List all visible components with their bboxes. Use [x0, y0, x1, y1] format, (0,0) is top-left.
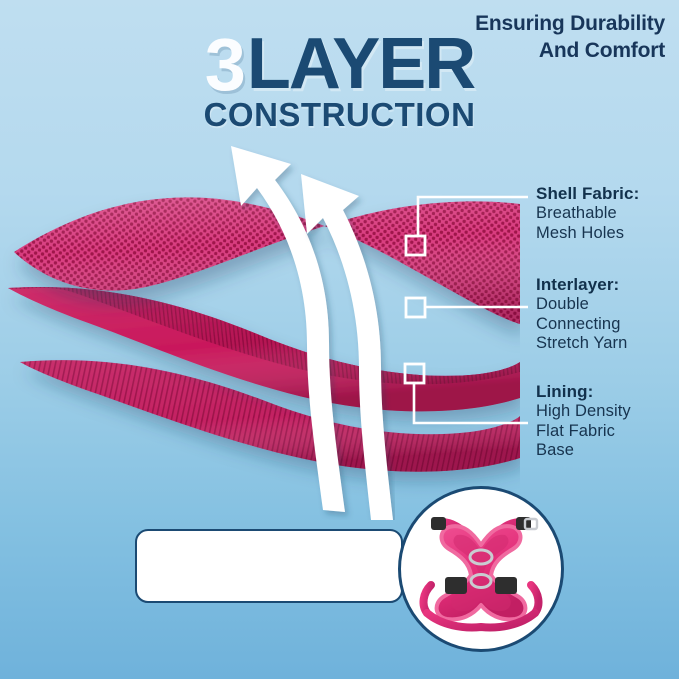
callout-shell-line-2: Mesh Holes — [536, 224, 639, 243]
callout-interlayer: Interlayer: Double Connecting Stretch Ya… — [536, 275, 627, 353]
callout-lining-line-2: Flat Fabric — [536, 422, 631, 441]
tagline-line-2: And Comfort — [427, 38, 665, 65]
product-image-circle — [398, 486, 564, 652]
tagline-text: Ensuring Durability And Comfort — [427, 11, 665, 65]
callout-shell-line-1: Breathable — [536, 204, 639, 223]
fabric-layers-illustration — [0, 140, 520, 500]
title-subtitle: CONSTRUCTION — [0, 98, 679, 131]
infographic-canvas: 3LAYER CONSTRUCTION — [0, 0, 679, 679]
tagline-line-1: Ensuring Durability — [427, 11, 665, 38]
tagline-banner — [135, 529, 403, 603]
pink-dog-harness-icon — [401, 489, 561, 649]
callout-lining-line-3: Base — [536, 441, 631, 460]
callout-interlayer-line-3: Stretch Yarn — [536, 334, 627, 353]
callout-shell-heading: Shell Fabric: — [536, 184, 639, 204]
callout-lining: Lining: High Density Flat Fabric Base — [536, 382, 631, 460]
callout-interlayer-line-1: Double — [536, 295, 627, 314]
callout-interlayer-line-2: Connecting — [536, 315, 627, 334]
callout-lining-heading: Lining: — [536, 382, 631, 402]
callout-lining-line-1: High Density — [536, 402, 631, 421]
callout-interlayer-heading: Interlayer: — [536, 275, 627, 295]
fabric-layer-interlayer — [8, 287, 520, 411]
callout-shell-fabric: Shell Fabric: Breathable Mesh Holes — [536, 184, 639, 243]
title-number: 3 — [205, 23, 245, 106]
